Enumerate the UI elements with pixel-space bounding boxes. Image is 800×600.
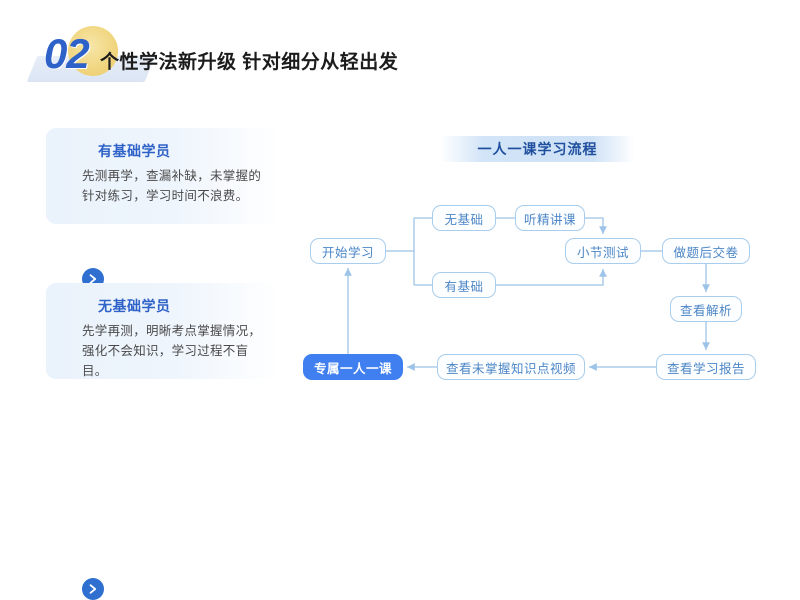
info-panel-title: 有基础学员 — [98, 140, 270, 162]
info-panel-body: 先学再测，明晰考点掌握情况，强化不会知识，学习过程不盲目。 — [82, 321, 270, 381]
flow-node-video[interactable]: 查看未掌握知识点视频 — [437, 354, 585, 380]
page-header: 02 个性学法新升级 针对细分从轻出发 — [0, 0, 800, 110]
flow-node-report[interactable]: 查看学习报告 — [656, 354, 756, 380]
flow-node-start[interactable]: 开始学习 — [310, 238, 386, 264]
page-title: 个性学法新升级 针对细分从轻出发 — [100, 47, 398, 74]
flow-node-submit[interactable]: 做题后交卷 — [662, 238, 750, 264]
chevron-right-circle-icon — [82, 578, 104, 600]
flow-title-text: 一人一课学习流程 — [478, 139, 598, 159]
flow-node-has-base[interactable]: 有基础 — [432, 272, 496, 298]
info-panel-title: 无基础学员 — [98, 295, 270, 317]
section-number: 02 — [44, 30, 89, 78]
flow-node-section-test[interactable]: 小节测试 — [565, 238, 641, 264]
flow-title-banner: 一人一课学习流程 — [440, 136, 635, 162]
flow-node-no-base[interactable]: 无基础 — [432, 205, 496, 231]
flow-node-analysis[interactable]: 查看解析 — [670, 296, 742, 322]
flow-node-exclusive[interactable]: 专属一人一课 — [303, 354, 403, 380]
info-panel-body: 先测再学，查漏补缺，未掌握的针对练习，学习时间不浪费。 — [82, 166, 270, 206]
flow-node-listen[interactable]: 听精讲课 — [515, 205, 585, 231]
info-panel-experienced: 有基础学员 先测再学，查漏补缺，未掌握的针对练习，学习时间不浪费。 — [46, 128, 280, 224]
info-panel-beginner: 无基础学员 先学再测，明晰考点掌握情况，强化不会知识，学习过程不盲目。 — [46, 283, 280, 379]
